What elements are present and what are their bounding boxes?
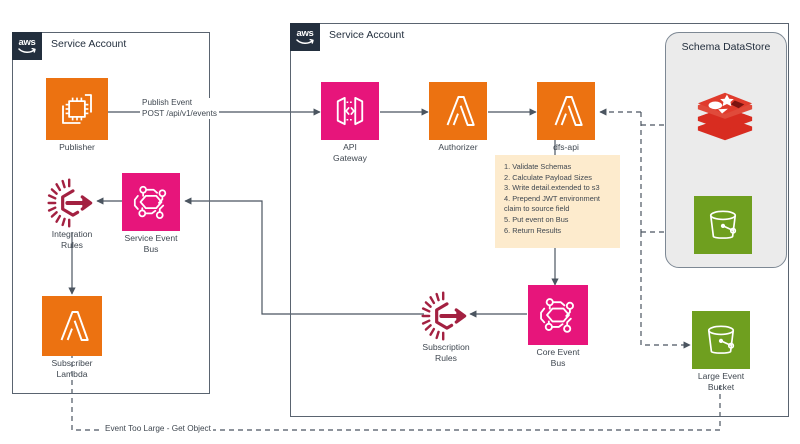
api-gateway-tile bbox=[321, 82, 379, 140]
service-event-bus-tile bbox=[122, 173, 180, 231]
node-subscription-rules[interactable]: Subscription Rules bbox=[418, 288, 474, 344]
eventbridge-rule-icon bbox=[418, 288, 474, 344]
note-line-4: 4. Prepend JWT environment bbox=[504, 194, 620, 205]
integration-rules-icon-wrap bbox=[44, 175, 100, 236]
node-authorizer[interactable]: Authorizer bbox=[429, 82, 487, 140]
architecture-diagram-canvas: aws Service Account aws Service Account … bbox=[0, 0, 800, 444]
large-event-bucket-label: Large Event Bucket bbox=[661, 371, 781, 392]
api-gateway-icon bbox=[329, 90, 371, 132]
node-large-event-bucket[interactable]: Large Event Bucket bbox=[692, 311, 750, 369]
schema-bucket-tile bbox=[694, 196, 752, 254]
note-line-5: claim to source field bbox=[504, 204, 620, 215]
node-core-event-bus[interactable]: Core Event Bus bbox=[528, 285, 588, 345]
note-line-2: 2. Calculate Payload Sizes bbox=[504, 173, 620, 184]
node-schema-bucket[interactable] bbox=[694, 196, 752, 254]
node-subscriber-lambda[interactable]: Subscriber Lambda bbox=[42, 296, 102, 356]
subscriber-lambda-label: Subscriber Lambda bbox=[12, 358, 132, 379]
publisher-label: Publisher bbox=[17, 142, 137, 153]
left-account-title: Service Account bbox=[51, 38, 126, 50]
lambda-icon bbox=[545, 90, 587, 132]
node-schema-cache[interactable] bbox=[694, 84, 756, 146]
dfs-api-label: dfs-api bbox=[506, 142, 626, 153]
aws-smile-icon bbox=[18, 48, 36, 54]
aws-smile-icon bbox=[296, 39, 314, 45]
node-integration-rules[interactable]: Integration Rules bbox=[44, 175, 100, 231]
authorizer-label: Authorizer bbox=[398, 142, 518, 153]
redis-icon bbox=[694, 84, 756, 146]
aws-wordmark: aws bbox=[18, 38, 35, 48]
aws-wordmark: aws bbox=[296, 29, 313, 39]
node-dfs-api[interactable]: dfs-api bbox=[537, 82, 595, 140]
node-publisher[interactable]: Publisher bbox=[46, 78, 108, 140]
lambda-icon bbox=[51, 305, 93, 347]
subscription-rules-icon-wrap bbox=[418, 288, 474, 349]
note-line-6: 5. Put event on Bus bbox=[504, 215, 620, 226]
aws-logo-icon: aws bbox=[12, 32, 42, 60]
dfs-api-tile bbox=[537, 82, 595, 140]
schema-datastore-title: Schema DataStore bbox=[666, 41, 786, 54]
edge-label-publish-event: Publish Event POST /api/v1/events bbox=[140, 98, 219, 119]
edge-label-event-too-large: Event Too Large - Get Object bbox=[103, 424, 213, 435]
large-event-bucket-tile bbox=[692, 311, 750, 369]
publisher-tile bbox=[46, 78, 108, 140]
node-service-event-bus[interactable]: Service Event Bus bbox=[122, 173, 180, 231]
subscription-rules-label: Subscription Rules bbox=[386, 342, 506, 363]
node-api-gateway[interactable]: API Gateway bbox=[321, 82, 379, 140]
note-line-7: 6. Return Results bbox=[504, 226, 620, 237]
right-account-title: Service Account bbox=[329, 29, 404, 41]
s3-bucket-icon bbox=[700, 319, 742, 361]
aws-logo-icon: aws bbox=[290, 23, 320, 51]
authorizer-tile bbox=[429, 82, 487, 140]
dfs-api-steps-note: 1. Validate Schemas 2. Calculate Payload… bbox=[495, 155, 620, 248]
api-gateway-label: API Gateway bbox=[290, 142, 410, 163]
note-line-3: 3. Write detail.extended to s3 bbox=[504, 183, 620, 194]
subscriber-lambda-tile bbox=[42, 296, 102, 356]
core-event-bus-label: Core Event Bus bbox=[498, 347, 618, 368]
lambda-icon bbox=[437, 90, 479, 132]
eventbridge-bus-icon bbox=[536, 293, 580, 337]
s3-bucket-icon bbox=[702, 204, 744, 246]
eventbridge-bus-icon bbox=[130, 181, 172, 223]
ec2-compute-icon bbox=[56, 88, 98, 130]
eventbridge-rule-icon bbox=[44, 175, 100, 231]
core-event-bus-tile bbox=[528, 285, 588, 345]
service-event-bus-label: Service Event Bus bbox=[91, 233, 211, 254]
note-line-1: 1. Validate Schemas bbox=[504, 162, 620, 173]
